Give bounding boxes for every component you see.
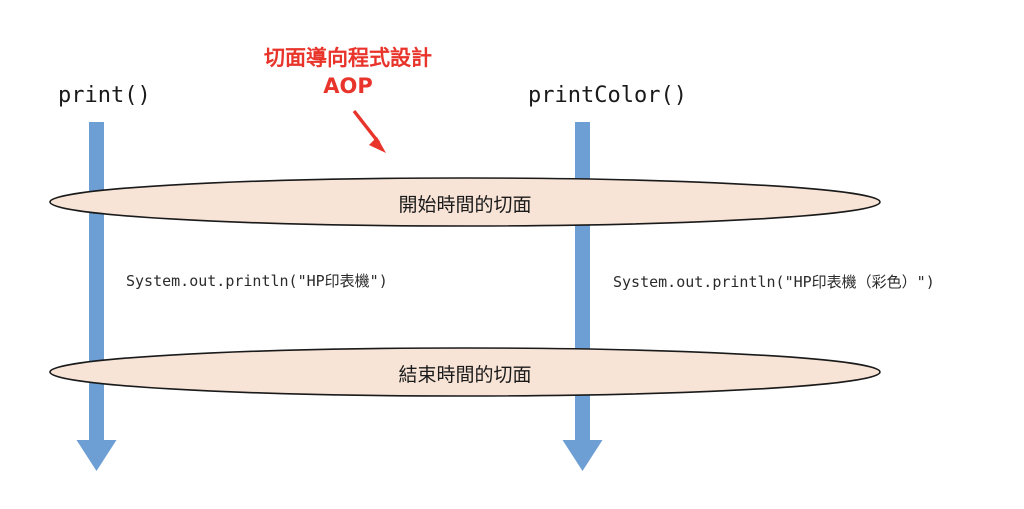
code-call-printcolor: System.out.println("HP印表機（彩色）") [613, 271, 935, 292]
red-annotation-arrow [354, 111, 386, 153]
lifeline-label-printcolor: printColor() [528, 83, 687, 108]
diagram-canvas: 切面導向程式設計 AOP print() printColor() 開始時間的切… [0, 0, 1024, 509]
lifeline-shaft-print [89, 122, 104, 448]
aop-annotation-line1: 切面導向程式設計 [248, 44, 448, 72]
aspect-label-before: 開始時間的切面 [365, 190, 565, 217]
aspect-label-after: 結束時間的切面 [365, 360, 565, 387]
lifeline-label-print: print() [58, 83, 151, 108]
lifeline-arrowhead-printcolor [563, 440, 603, 471]
aop-annotation-title: 切面導向程式設計 AOP [248, 44, 448, 101]
lifeline-arrow-print [77, 122, 117, 471]
lifeline-arrowhead-print [77, 440, 117, 471]
aop-annotation-line2: AOP [248, 72, 448, 100]
lifeline-arrow-printcolor [563, 122, 603, 471]
aop-diagram-graphics [0, 0, 1024, 509]
code-call-print: System.out.println("HP印表機") [126, 270, 388, 291]
lifeline-shaft-printcolor [575, 122, 590, 448]
